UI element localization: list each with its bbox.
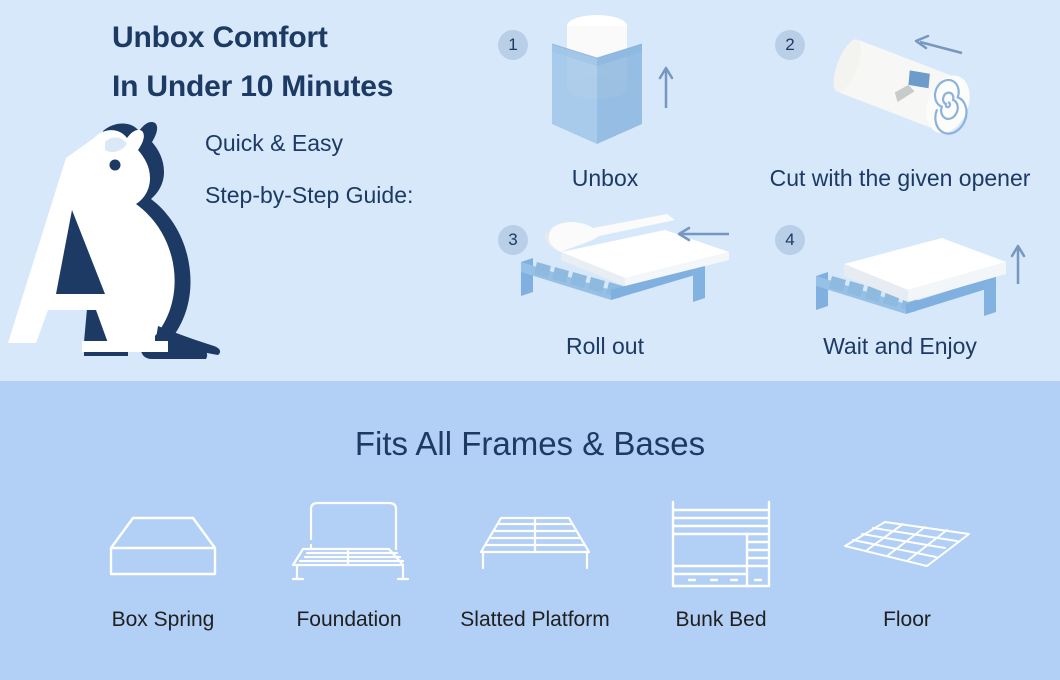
frame-label-box-spring: Box Spring (70, 607, 256, 633)
step-1-caption: Unbox (480, 164, 730, 192)
frame-label-bunk-bed: Bunk Bed (628, 607, 814, 633)
frame-item-slatted-platform: Slatted Platform (442, 495, 628, 633)
step-2-number-badge: 2 (775, 30, 805, 60)
frame-types-row: Box Spring (70, 495, 1000, 655)
step-2-caption: Cut with the given opener (740, 164, 1060, 192)
box-spring-icon (70, 495, 256, 595)
step-2: 2 (740, 12, 1060, 202)
step-4-caption: Wait and Enjoy (740, 332, 1060, 360)
mattress-in-box-icon (540, 12, 680, 167)
unbox-comfort-infographic: Unbox Comfort In Under 10 Minutes Quick … (0, 0, 1060, 680)
frame-item-box-spring: Box Spring (70, 495, 256, 633)
frame-item-bunk-bed: Bunk Bed (628, 495, 814, 633)
rolled-mattress-with-cutter-icon (810, 26, 1000, 161)
slatted-platform-icon (442, 495, 628, 595)
frame-item-foundation: Foundation (256, 495, 442, 633)
frame-item-floor: Floor (814, 495, 1000, 633)
frame-label-foundation: Foundation (256, 607, 442, 633)
kangaroo-letter-a-logo (8, 98, 244, 366)
fits-all-frames-heading: Fits All Frames & Bases (0, 422, 1060, 466)
frame-label-floor: Floor (814, 607, 1000, 633)
frame-label-slatted-platform: Slatted Platform (442, 607, 628, 633)
bunk-bed-icon (628, 495, 814, 595)
step-1-number-badge: 1 (498, 30, 528, 60)
step-4-number-badge: 4 (775, 225, 805, 255)
headline-line-1: Unbox Comfort (112, 13, 512, 62)
floor-icon (814, 495, 1000, 595)
mattress-unrolling-on-slats-icon (515, 212, 745, 327)
step-1: 1 Unbox (480, 12, 730, 202)
step-3: 3 (480, 212, 730, 372)
step-3-caption: Roll out (480, 332, 730, 360)
foundation-bed-frame-icon (256, 495, 442, 595)
step-4: 4 (740, 212, 1060, 372)
expanded-mattress-on-slats-icon (810, 230, 1030, 340)
page-title: Unbox Comfort In Under 10 Minutes (112, 13, 512, 111)
